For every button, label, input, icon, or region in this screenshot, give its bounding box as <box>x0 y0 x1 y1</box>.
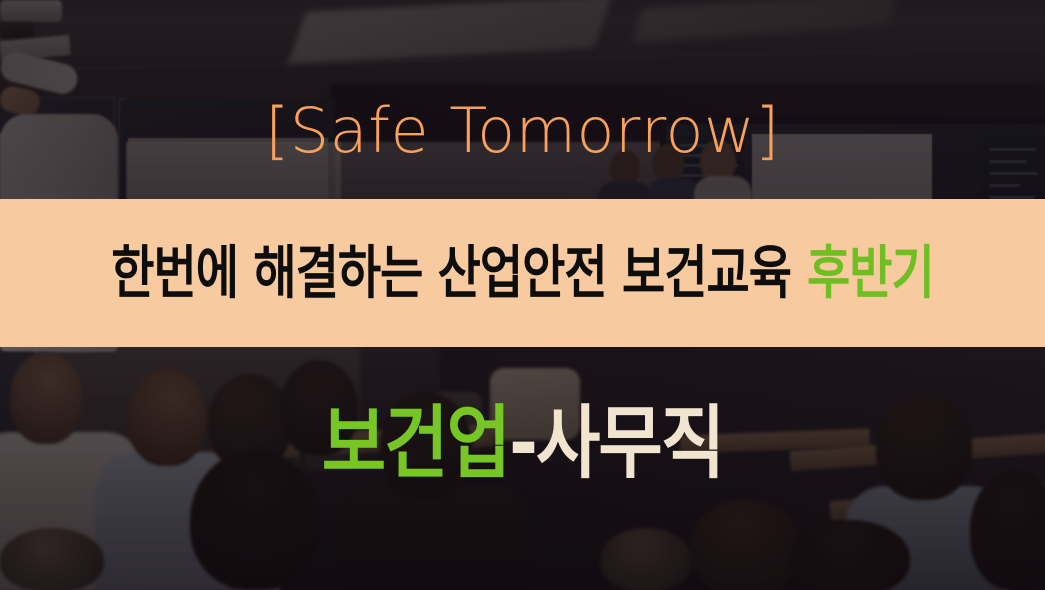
band-text-term: 후반기 <box>807 239 934 306</box>
course-category-industry: 보건업 <box>322 396 509 489</box>
course-promo-banner: [Safe Tomorrow] 한번에 해결하는 산업안전 보건교육후반기 보건… <box>0 0 1045 590</box>
band-text: 한번에 해결하는 산업안전 보건교육후반기 <box>111 244 933 301</box>
course-category-role: -사무직 <box>509 396 723 489</box>
highlight-band: 한번에 해결하는 산업안전 보건교육후반기 <box>0 199 1045 347</box>
page-title: [Safe Tomorrow] <box>0 100 1045 162</box>
band-text-main: 한번에 해결하는 산업안전 보건교육 <box>111 239 791 306</box>
course-category-title: 보건업-사무직 <box>0 403 1045 483</box>
